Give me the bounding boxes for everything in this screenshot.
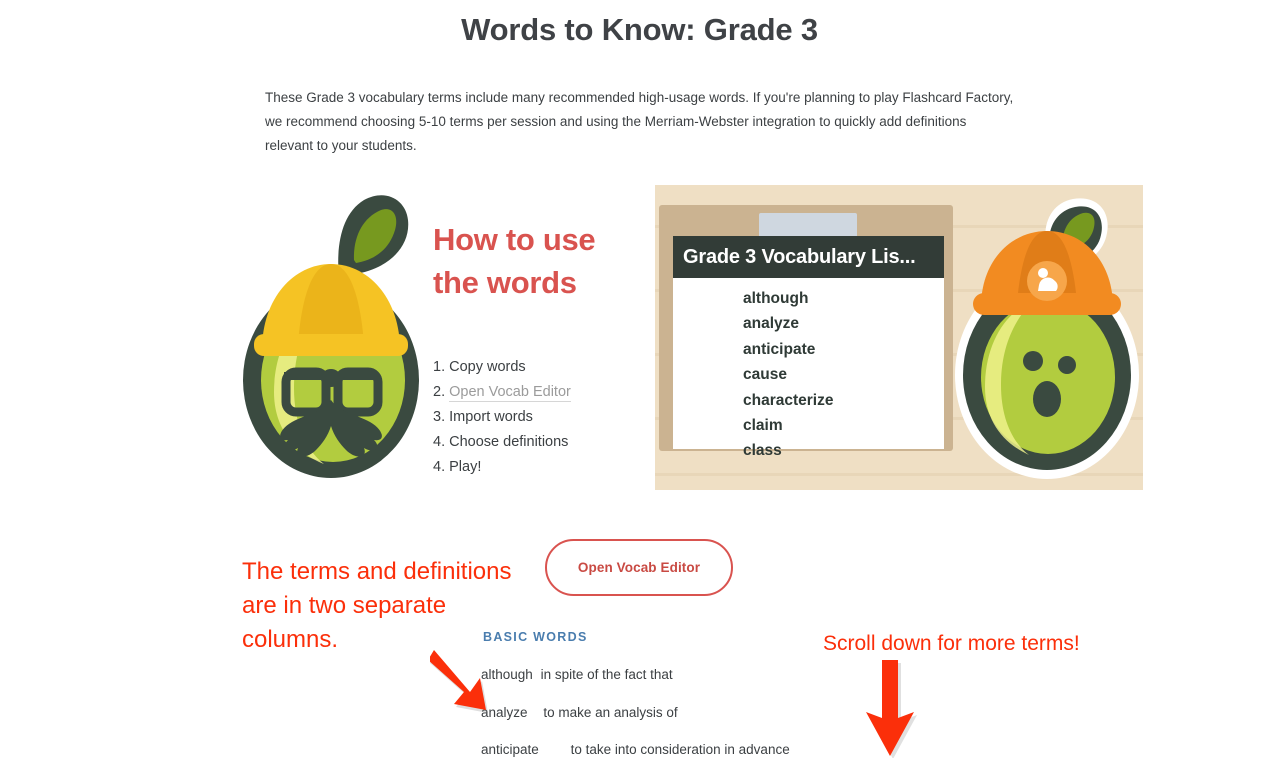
sheet-word: class [743, 438, 944, 463]
sheet-word: anticipate [743, 337, 944, 362]
step-number: 2. [433, 384, 445, 400]
annotation-scroll-text: Scroll down for more terms! [823, 632, 1080, 656]
howto-step-2: 2. Open Vocab Editor [433, 380, 633, 405]
vocab-definition: to make an analysis of [543, 705, 677, 720]
step-label: Choose definitions [449, 434, 568, 450]
open-vocab-editor-link[interactable]: Open Vocab Editor [449, 384, 571, 402]
intro-paragraph: These Grade 3 vocabulary terms include m… [265, 86, 1015, 158]
vocab-term: anticipate [481, 742, 539, 757]
step-number: 4. [433, 434, 445, 450]
howto-step-1: 1. Copy words [433, 355, 633, 380]
step-number: 4. [433, 459, 445, 475]
page-title: Words to Know: Grade 3 [0, 12, 1279, 48]
vocab-row[interactable]: analyze to make an analysis of [481, 705, 678, 720]
howto-step-5: 4. Play! [433, 455, 633, 480]
step-label: Import words [449, 409, 533, 425]
annotation-columns-text: The terms and definitions are in two sep… [242, 555, 512, 657]
howto-step-list: 1. Copy words 2. Open Vocab Editor 3. Im… [433, 355, 633, 480]
step-label: Play! [449, 459, 481, 475]
sheet-word: analyze [743, 311, 944, 336]
step-number: 1. [433, 359, 445, 375]
vocab-row[interactable]: anticipate to take into consideration in… [481, 742, 790, 757]
sheet-word-list: although analyze anticipate cause charac… [673, 278, 944, 464]
clipboard: Grade 3 Vocabulary Lis... although analy… [659, 205, 953, 451]
sheet-word: claim [743, 413, 944, 438]
howto-step-4: 4. Choose definitions [433, 430, 633, 455]
annotation-arrow-down-icon [860, 660, 920, 758]
pear-sticker-icon [955, 197, 1143, 487]
howto-heading: How to use the words [433, 218, 608, 304]
pear-mascot-hardhat-icon [236, 192, 426, 494]
vocab-list-illustration: Grade 3 Vocabulary Lis... although analy… [655, 185, 1143, 490]
howto-step-3: 3. Import words [433, 405, 633, 430]
clipboard-sheet: Grade 3 Vocabulary Lis... although analy… [673, 236, 944, 449]
sheet-word: although [743, 286, 944, 311]
vocab-definition: to take into consideration in advance [571, 742, 790, 757]
annotation-arrow-diagonal-icon [430, 648, 510, 720]
sheet-word: characterize [743, 388, 944, 413]
sheet-title: Grade 3 Vocabulary Lis... [673, 236, 944, 278]
sheet-word: cause [743, 362, 944, 387]
open-vocab-editor-button[interactable]: Open Vocab Editor [545, 539, 733, 596]
vocab-definition: in spite of the fact that [541, 667, 673, 682]
step-label: Copy words [449, 359, 526, 375]
step-number: 3. [433, 409, 445, 425]
